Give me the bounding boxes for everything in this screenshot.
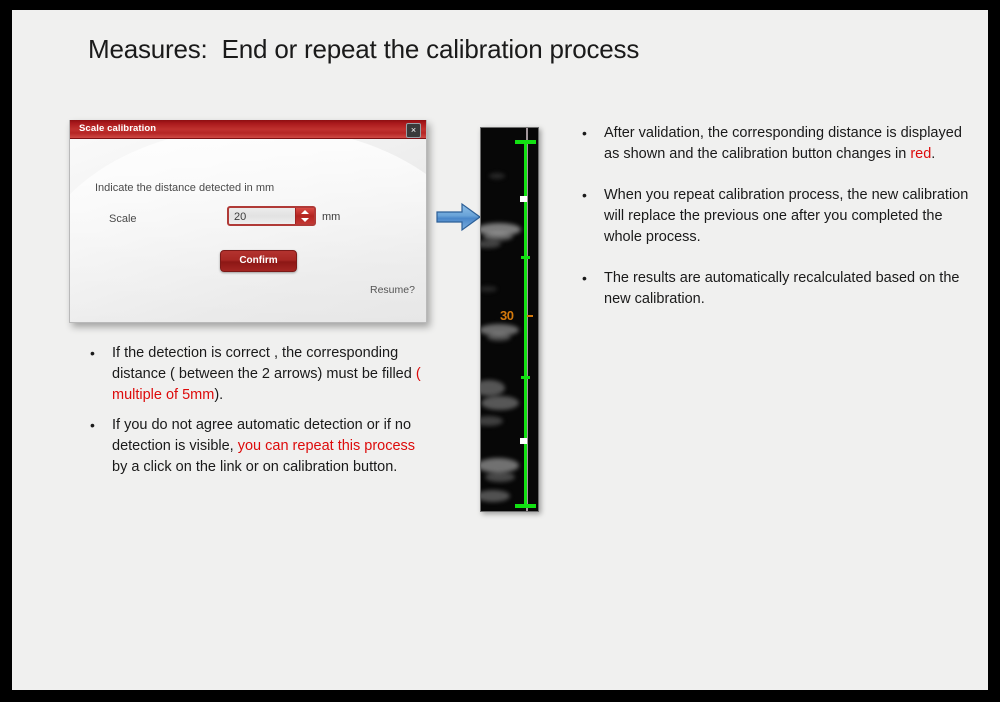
list-item-text: When you repeat calibration process, the… bbox=[604, 187, 968, 245]
tissue-speckle bbox=[487, 333, 511, 341]
tissue-speckle bbox=[480, 416, 503, 426]
tissue-speckle bbox=[489, 173, 505, 179]
chevron-up-icon[interactable] bbox=[301, 210, 309, 214]
body-text: After validation, the corresponding dist… bbox=[604, 125, 962, 162]
measurement-marker bbox=[520, 196, 527, 202]
bullet-list-right: •After validation, the corresponding dis… bbox=[574, 123, 974, 330]
close-icon[interactable]: × bbox=[406, 123, 421, 138]
scale-value-text[interactable]: 20 bbox=[234, 211, 246, 223]
list-item-text: After validation, the corresponding dist… bbox=[604, 125, 962, 162]
list-item: •The results are automatically recalcula… bbox=[574, 268, 974, 310]
depth-tick bbox=[527, 315, 533, 317]
dialog-titlebar: Scale calibration × bbox=[70, 120, 426, 139]
resume-link[interactable]: Resume? bbox=[370, 284, 415, 296]
scale-calibration-dialog: Scale calibration × Indicate the distanc… bbox=[69, 120, 429, 328]
body-text: If the detection is correct , the corres… bbox=[112, 345, 416, 382]
body-text: . bbox=[931, 146, 935, 162]
bullet-marker-icon: • bbox=[90, 343, 95, 364]
body-text: The results are automatically recalculat… bbox=[604, 270, 959, 307]
scale-value-stepper[interactable]: 20 bbox=[227, 206, 316, 226]
confirm-button[interactable]: Confirm bbox=[220, 250, 297, 272]
dialog-body: Scale calibration × Indicate the distanc… bbox=[69, 120, 427, 323]
tissue-speckle bbox=[480, 240, 501, 248]
blue-right-arrow-icon bbox=[436, 202, 482, 232]
highlighted-text: red bbox=[910, 146, 931, 162]
list-item: •If you do not agree automatic detection… bbox=[82, 415, 422, 478]
tissue-speckle bbox=[480, 458, 519, 473]
list-item: •When you repeat calibration process, th… bbox=[574, 185, 974, 248]
list-item-text: The results are automatically recalculat… bbox=[604, 270, 959, 307]
unit-label: mm bbox=[322, 211, 340, 223]
instruction-label: Indicate the distance detected in mm bbox=[95, 182, 274, 194]
measurement-bottom-cap bbox=[515, 504, 536, 508]
chevron-down-icon[interactable] bbox=[301, 218, 309, 222]
depth-value-label: 30 bbox=[500, 308, 513, 323]
measurement-marker bbox=[520, 438, 527, 444]
list-item-text: If the detection is correct , the corres… bbox=[112, 345, 421, 403]
body-text: ). bbox=[214, 387, 223, 403]
ultrasound-calibration-image: 30 bbox=[480, 127, 539, 512]
slide-canvas: Measures: End or repeat the calibration … bbox=[12, 10, 988, 690]
page-title: Measures: End or repeat the calibration … bbox=[88, 34, 639, 65]
bullet-marker-icon: • bbox=[582, 123, 587, 144]
bullet-marker-icon: • bbox=[582, 268, 587, 289]
bullet-marker-icon: • bbox=[582, 185, 587, 206]
highlighted-text: you can repeat this process bbox=[238, 438, 415, 454]
tissue-speckle bbox=[481, 396, 519, 410]
body-text: by a click on the link or on calibration… bbox=[112, 459, 397, 475]
stepper-buttons[interactable] bbox=[295, 208, 314, 224]
tissue-speckle bbox=[480, 490, 510, 502]
tissue-speckle bbox=[480, 380, 505, 396]
tissue-speckle bbox=[480, 286, 497, 292]
dialog-title-label: Scale calibration bbox=[79, 123, 156, 134]
bullet-marker-icon: • bbox=[90, 415, 95, 436]
measurement-tick bbox=[521, 376, 530, 379]
body-text: When you repeat calibration process, the… bbox=[604, 187, 968, 245]
scale-field-label: Scale bbox=[109, 213, 137, 225]
measurement-top-cap bbox=[515, 140, 536, 144]
list-item: •After validation, the corresponding dis… bbox=[574, 123, 974, 165]
bullet-list-left: •If the detection is correct , the corre… bbox=[82, 343, 422, 487]
list-item-text: If you do not agree automatic detection … bbox=[112, 417, 415, 475]
list-item: •If the detection is correct , the corre… bbox=[82, 343, 422, 406]
measurement-tick bbox=[521, 256, 530, 259]
tissue-speckle bbox=[485, 472, 515, 482]
